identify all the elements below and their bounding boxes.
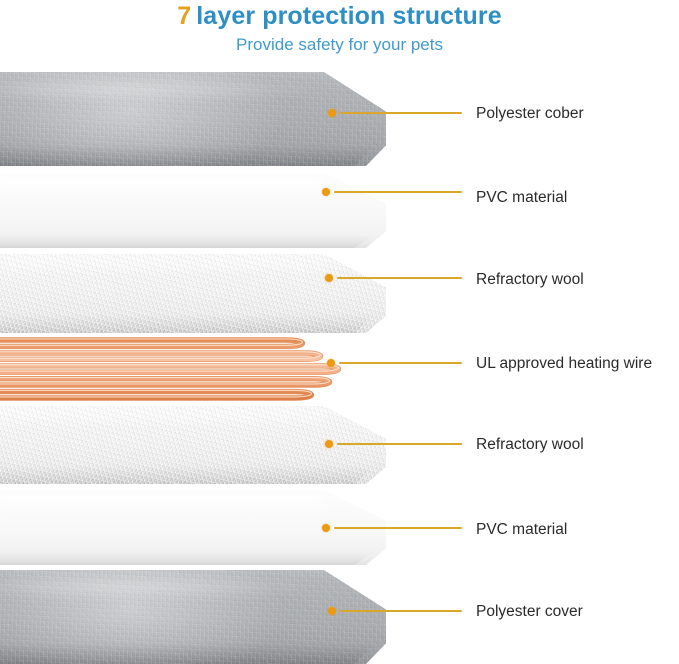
leader-dot-7 [328,607,336,615]
slab-texture [0,570,386,664]
leader-line-2 [334,191,462,193]
layer-slab-2 [0,172,386,248]
layer-label-5: Refractory wool [476,436,584,454]
leader-line-1 [340,112,462,114]
layer-3-wool [0,254,679,333]
layer-label-2: PVC material [476,189,567,207]
page-subtitle: Provide safety for your pets [0,31,679,56]
leader-dot-4 [327,359,335,367]
page-title-text: layer protection structure [196,2,501,30]
slab-texture [0,72,386,166]
leader-dot-2 [322,188,330,196]
layer-label-6: PVC material [476,521,567,539]
layer-stack-diagram: Polyester coberPVC materialRefractory wo… [0,64,679,664]
slab-shadow [0,551,374,565]
heating-wire-graphic [0,337,386,401]
layer-slab-3 [0,254,386,333]
layer-label-7: Polyester cover [476,603,583,621]
leader-line-6 [334,527,462,529]
layer-label-4: UL approved heating wire [476,355,652,373]
slab-highlight [0,177,322,200]
slab-highlight [0,494,322,517]
leader-line-7 [340,610,462,612]
layer-count-number: 7 [177,2,191,30]
layer-2-pvc [0,172,679,248]
leader-line-3 [337,277,462,279]
slab-shadow [0,234,374,248]
leader-dot-6 [322,524,330,532]
layer-slab-7 [0,570,386,664]
leader-dot-1 [328,109,336,117]
page-title: 7layer protection structure [0,0,679,31]
leader-dot-3 [325,274,333,282]
slab-body [0,172,386,248]
layer-label-1: Polyester cober [476,105,584,123]
leader-line-4 [339,362,462,364]
leader-dot-5 [325,440,333,448]
slab-texture [0,254,386,333]
layer-label-3: Refractory wool [476,271,584,289]
layer-slab-1 [0,72,386,166]
infographic-header: 7layer protection structure Provide safe… [0,0,679,64]
leader-line-5 [337,443,462,445]
